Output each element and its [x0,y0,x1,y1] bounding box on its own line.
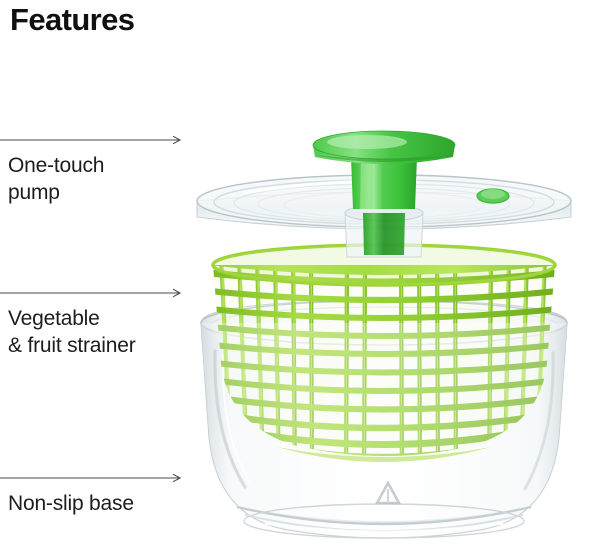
arrow-right-icon [0,288,184,298]
pump-knob [313,131,455,164]
arrow-right-icon [0,135,184,145]
callout-label-non-slip-base: Non-slip base [8,490,134,517]
pump-housing [345,205,423,257]
callout-label-one-touch-pump: One-touch pump [8,152,104,206]
feature-callout-page: Features One-touch pump Vegetable & frui… [0,0,600,545]
callout-label-vegetable-fruit-strainer: Vegetable & fruit strainer [8,305,136,359]
clear-bowl-front [201,323,567,538]
arrow-right-icon [0,473,184,483]
pump-shaft [351,157,417,209]
page-title: Features [10,0,134,40]
product-image-salad-spinner [185,105,600,545]
